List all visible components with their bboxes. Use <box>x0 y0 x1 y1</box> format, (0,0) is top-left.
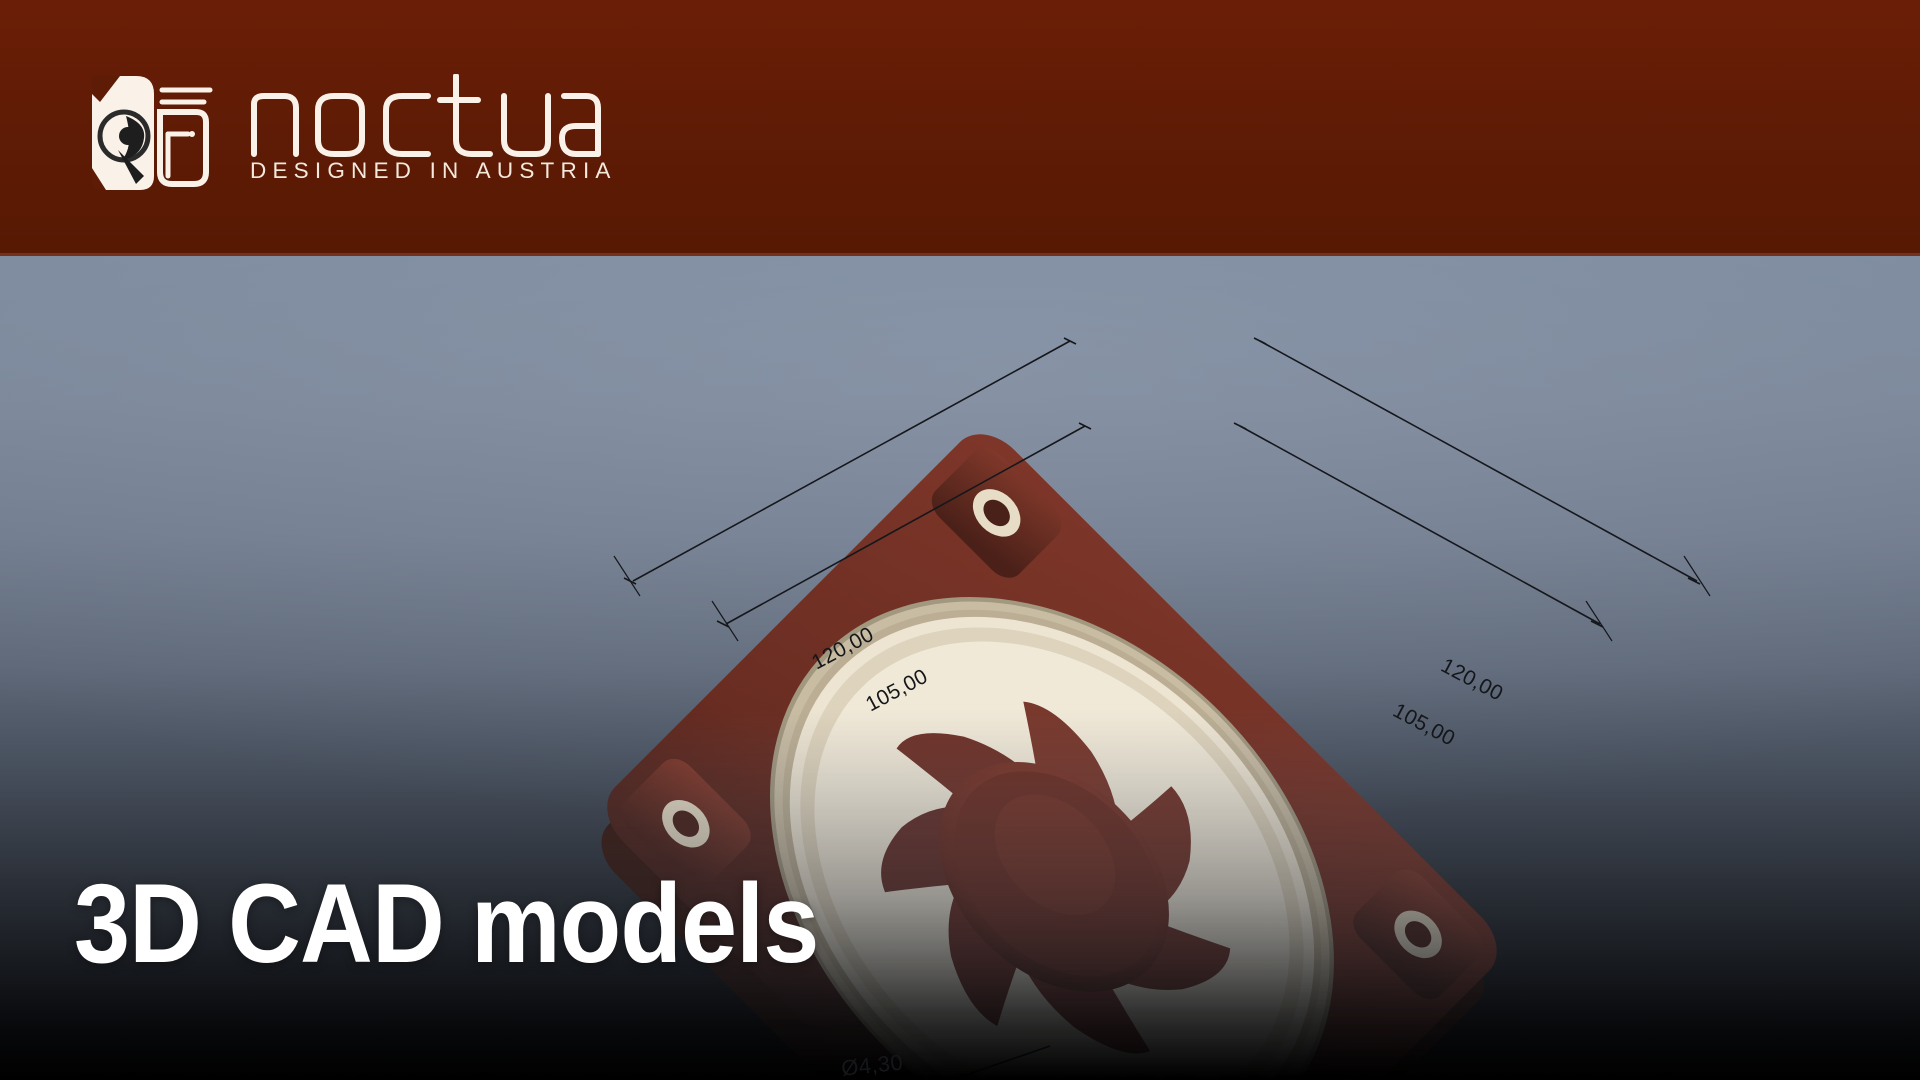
noctua-wordmark <box>246 74 606 158</box>
hero-section: 120,00 105,00 120,00 105,00 Ø4,30 15,00 … <box>0 256 1920 1080</box>
logo-tagline: DESIGNED IN AUSTRIA <box>250 160 617 183</box>
logo-text-block: DESIGNED IN AUSTRIA <box>246 74 617 183</box>
slide-canvas: DESIGNED IN AUSTRIA <box>0 0 1920 1080</box>
noctua-logo[interactable]: DESIGNED IN AUSTRIA <box>88 70 617 194</box>
page-subtitle: FOR MECHANICAL DESIGN, RENDERINGS AND AN… <box>74 1074 1684 1080</box>
noctua-owl-logo-icon <box>88 72 228 194</box>
page-title: 3D CAD models <box>74 868 818 980</box>
header-bar: DESIGNED IN AUSTRIA <box>0 0 1920 256</box>
